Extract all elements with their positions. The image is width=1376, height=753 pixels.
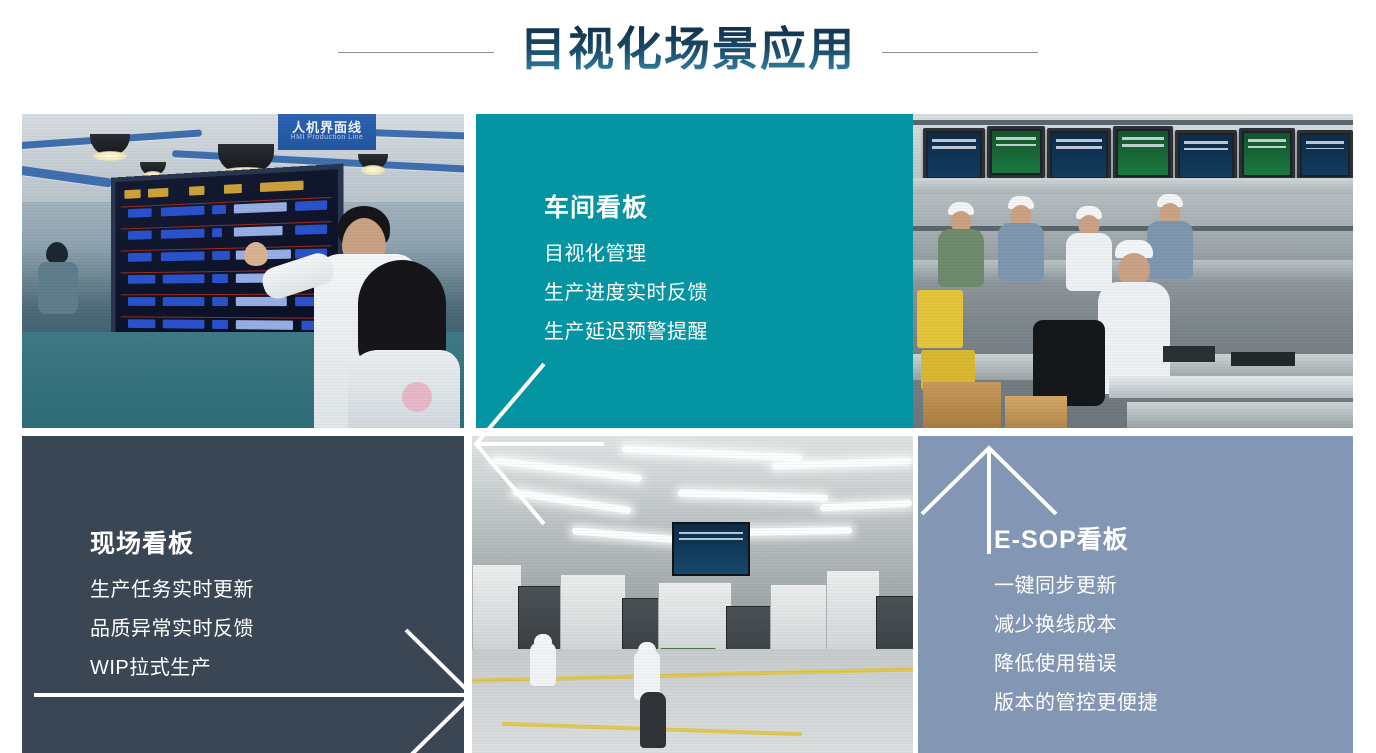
esop-kanban-line-4: 版本的管控更便捷 bbox=[994, 684, 1158, 723]
esop-kanban-line-3: 降低使用错误 bbox=[994, 645, 1158, 684]
workshop-kanban-text: 车间看板 目视化管理 生产进度实时反馈 生产延迟预警提醒 bbox=[544, 195, 708, 352]
page-title: 目视化场景应用 bbox=[520, 22, 856, 82]
scene-grid: 人机界面线 HMI Production Line bbox=[22, 114, 1353, 753]
site-kanban-text: 现场看板 生产任务实时更新 品质异常实时反馈 WIP拉式生产 bbox=[90, 531, 254, 688]
esop-kanban-line-1: 一键同步更新 bbox=[994, 567, 1158, 606]
workshop-kanban-panel: 车间看板 目视化管理 生产进度实时反馈 生产延迟预警提醒 bbox=[476, 114, 917, 428]
workshop-kanban-title: 车间看板 bbox=[544, 195, 708, 223]
title-rule-left bbox=[338, 52, 494, 53]
esop-kanban-text: E-SOP看板 一键同步更新 减少换线成本 降低使用错误 版本的管控更便捷 bbox=[994, 527, 1158, 723]
workshop-kanban-line-1: 目视化管理 bbox=[544, 235, 708, 274]
esop-kanban-panel: E-SOP看板 一键同步更新 减少换线成本 降低使用错误 版本的管控更便捷 bbox=[918, 436, 1353, 753]
site-kanban-line-2: 品质异常实时反馈 bbox=[90, 610, 254, 649]
esop-kanban-line-2: 减少换线成本 bbox=[994, 606, 1158, 645]
assembly-line-monitors-photo bbox=[913, 114, 1353, 428]
arrow-right-icon bbox=[344, 620, 464, 753]
workshop-kanban-line-3: 生产延迟预警提醒 bbox=[544, 313, 708, 352]
hmi-line-sign-en: HMI Production Line bbox=[278, 134, 376, 141]
site-kanban-title: 现场看板 bbox=[90, 531, 254, 559]
hmi-line-sign: 人机界面线 HMI Production Line bbox=[278, 114, 376, 150]
site-kanban-line-3: WIP拉式生产 bbox=[90, 649, 254, 688]
page-header: 目视化场景应用 bbox=[0, 0, 1376, 104]
esop-kanban-title: E-SOP看板 bbox=[994, 527, 1158, 555]
factory-led-board-photo: 人机界面线 HMI Production Line bbox=[22, 114, 464, 428]
site-kanban-line-1: 生产任务实时更新 bbox=[90, 571, 254, 610]
workshop-kanban-line-2: 生产进度实时反馈 bbox=[544, 274, 708, 313]
site-kanban-panel: 现场看板 生产任务实时更新 品质异常实时反馈 WIP拉式生产 bbox=[22, 436, 464, 753]
smt-workshop-photo bbox=[472, 436, 913, 753]
title-rule-right bbox=[882, 52, 1038, 53]
